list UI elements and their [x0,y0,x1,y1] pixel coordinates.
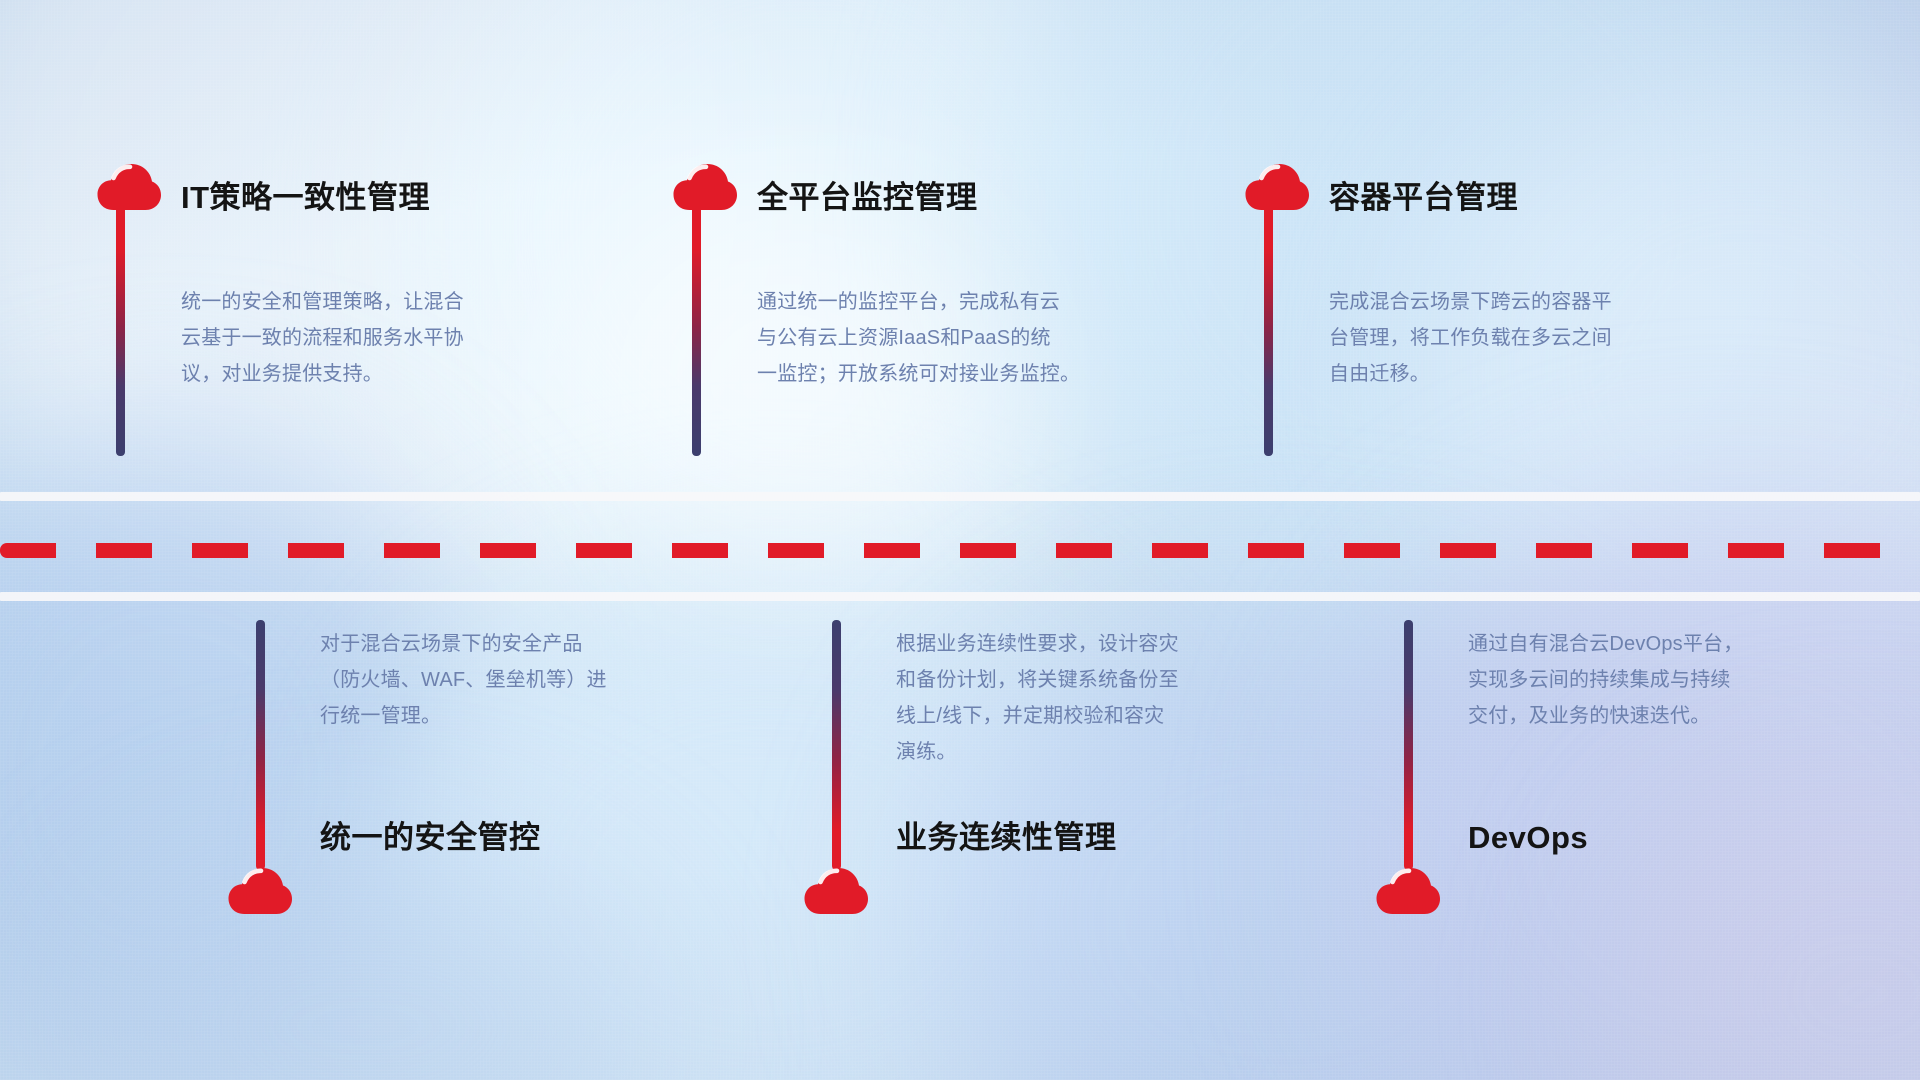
cloud-pin-icon [803,866,869,916]
top-card-1-title: IT策略一致性管理 [181,182,430,213]
road-center-dashed-line [0,543,1920,558]
top-card-2-title: 全平台监控管理 [757,182,978,213]
cloud-pin-icon [227,866,293,916]
stem-connector [1264,206,1273,456]
top-card-2-body: 通过统一的监控平台，完成私有云 与公有云上资源IaaS和PaaS的统 一监控；开… [757,284,1187,392]
top-card-3-body: 完成混合云场景下跨云的容器平 台管理，将工作负载在多云之间 自由迁移。 [1329,284,1759,392]
top-card-3[interactable]: 容器平台管理 完成混合云场景下跨云的容器平 台管理，将工作负载在多云之间 自由迁… [1244,162,1310,212]
stem-connector [256,620,265,870]
stem-connector [832,620,841,870]
bottom-card-1-body: 对于混合云场景下的安全产品 （防火墙、WAF、堡垒机等）进 行统一管理。 [320,626,750,734]
stem-connector [116,206,125,456]
cloud-pin-icon [672,162,738,212]
stem-connector [692,206,701,456]
bottom-card-1-title: 统一的安全管控 [320,822,541,853]
background [0,0,1920,1080]
top-card-2[interactable]: 全平台监控管理 通过统一的监控平台，完成私有云 与公有云上资源IaaS和PaaS… [672,162,738,212]
bottom-card-3-title: DevOps [1468,822,1588,853]
background-texture [0,0,1920,1080]
cloud-pin-icon [1244,162,1310,212]
top-card-1[interactable]: IT策略一致性管理 统一的安全和管理策略，让混合 云基于一致的流程和服务水平协 … [96,162,162,212]
top-card-1-body: 统一的安全和管理策略，让混合 云基于一致的流程和服务水平协 议，对业务提供支持。 [181,284,611,392]
stem-connector [1404,620,1413,870]
bottom-card-3-body: 通过自有混合云DevOps平台， 实现多云间的持续集成与持续 交付，及业务的快速… [1468,626,1898,734]
bottom-card-2-title: 业务连续性管理 [896,822,1117,853]
cloud-pin-icon [1375,866,1441,916]
road-edge-line-top [0,492,1920,501]
cloud-pin-icon [96,162,162,212]
bottom-card-2-body: 根据业务连续性要求，设计容灾 和备份计划，将关键系统备份至 线上/线下，并定期校… [896,626,1326,770]
top-card-3-title: 容器平台管理 [1329,182,1518,213]
road-edge-line-bottom [0,592,1920,601]
